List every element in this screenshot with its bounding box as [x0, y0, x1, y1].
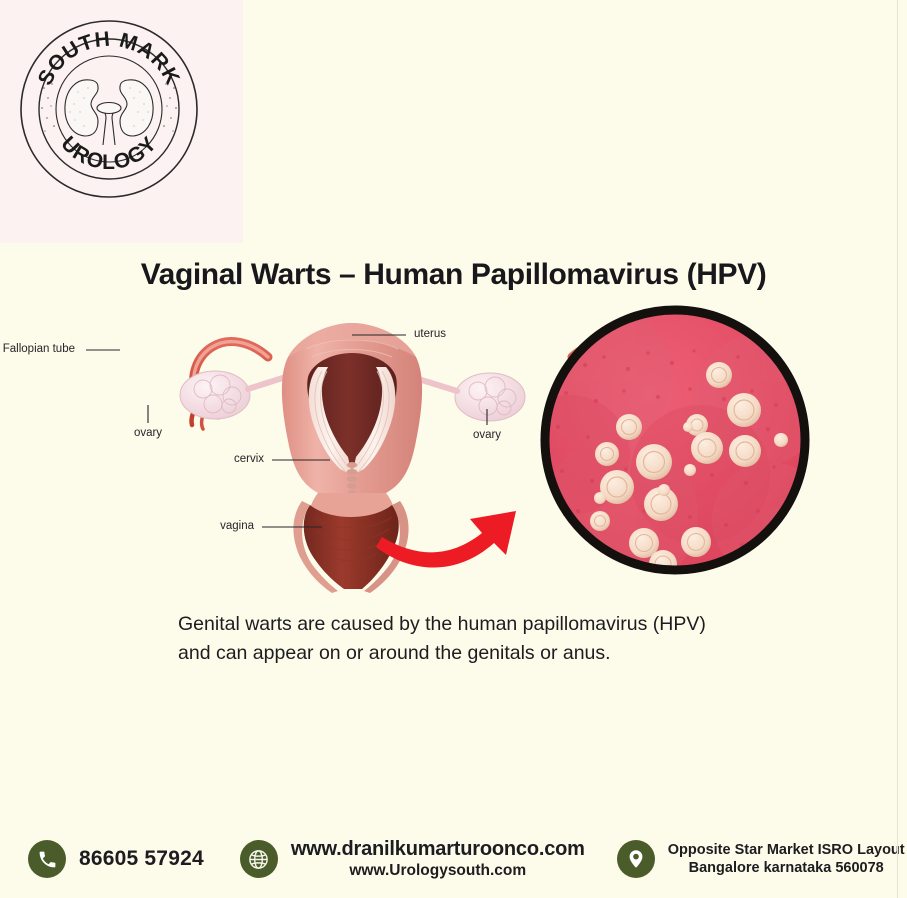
genital-warts-closeup: [510, 305, 828, 593]
address-line-1: Opposite Star Market ISRO Layout: [668, 842, 905, 858]
logo-top-text: SOUTH MARK: [34, 28, 185, 89]
contact-phone[interactable]: 86605 57924: [28, 840, 204, 878]
body-line-2: and can appear on or around the genitals…: [178, 639, 798, 668]
label-cervix: cervix: [234, 453, 264, 465]
contact-website[interactable]: www.dranilkumarturoonco.com www.Urologys…: [240, 838, 585, 880]
brand-logo: SOUTH MARK UROLOGY: [18, 18, 200, 200]
phone-number: 86605 57924: [79, 847, 204, 871]
label-uterus: uterus: [414, 328, 446, 340]
address-line-2: Bangalore karnataka 560078: [668, 860, 905, 876]
svg-text:SOUTH MARK: SOUTH MARK: [34, 28, 185, 89]
website-primary: www.dranilkumarturoonco.com: [291, 838, 585, 861]
contact-address[interactable]: Opposite Star Market ISRO Layout Bangalo…: [617, 840, 905, 878]
map-pin-icon: [617, 840, 655, 878]
page-title: Vaginal Warts – Human Papillomavirus (HP…: [0, 258, 907, 292]
label-ovary-left: ovary: [134, 427, 162, 439]
label-fallopian-tube: Fallopian tube: [3, 343, 75, 355]
website-secondary: www.Urologysouth.com: [291, 862, 585, 880]
phone-icon: [28, 840, 66, 878]
globe-icon: [240, 840, 278, 878]
label-ovary-right: ovary: [473, 429, 501, 441]
body-copy: Genital warts are caused by the human pa…: [178, 610, 798, 668]
contact-footer: 86605 57924 www.dranilkumarturoonco.com …: [0, 820, 907, 898]
body-line-1: Genital warts are caused by the human pa…: [178, 610, 798, 639]
right-edge-divider: [897, 0, 898, 898]
label-vagina: vagina: [220, 520, 254, 532]
illustration-area: Fallopian tube ovary uterus ovary cervix…: [0, 305, 907, 595]
